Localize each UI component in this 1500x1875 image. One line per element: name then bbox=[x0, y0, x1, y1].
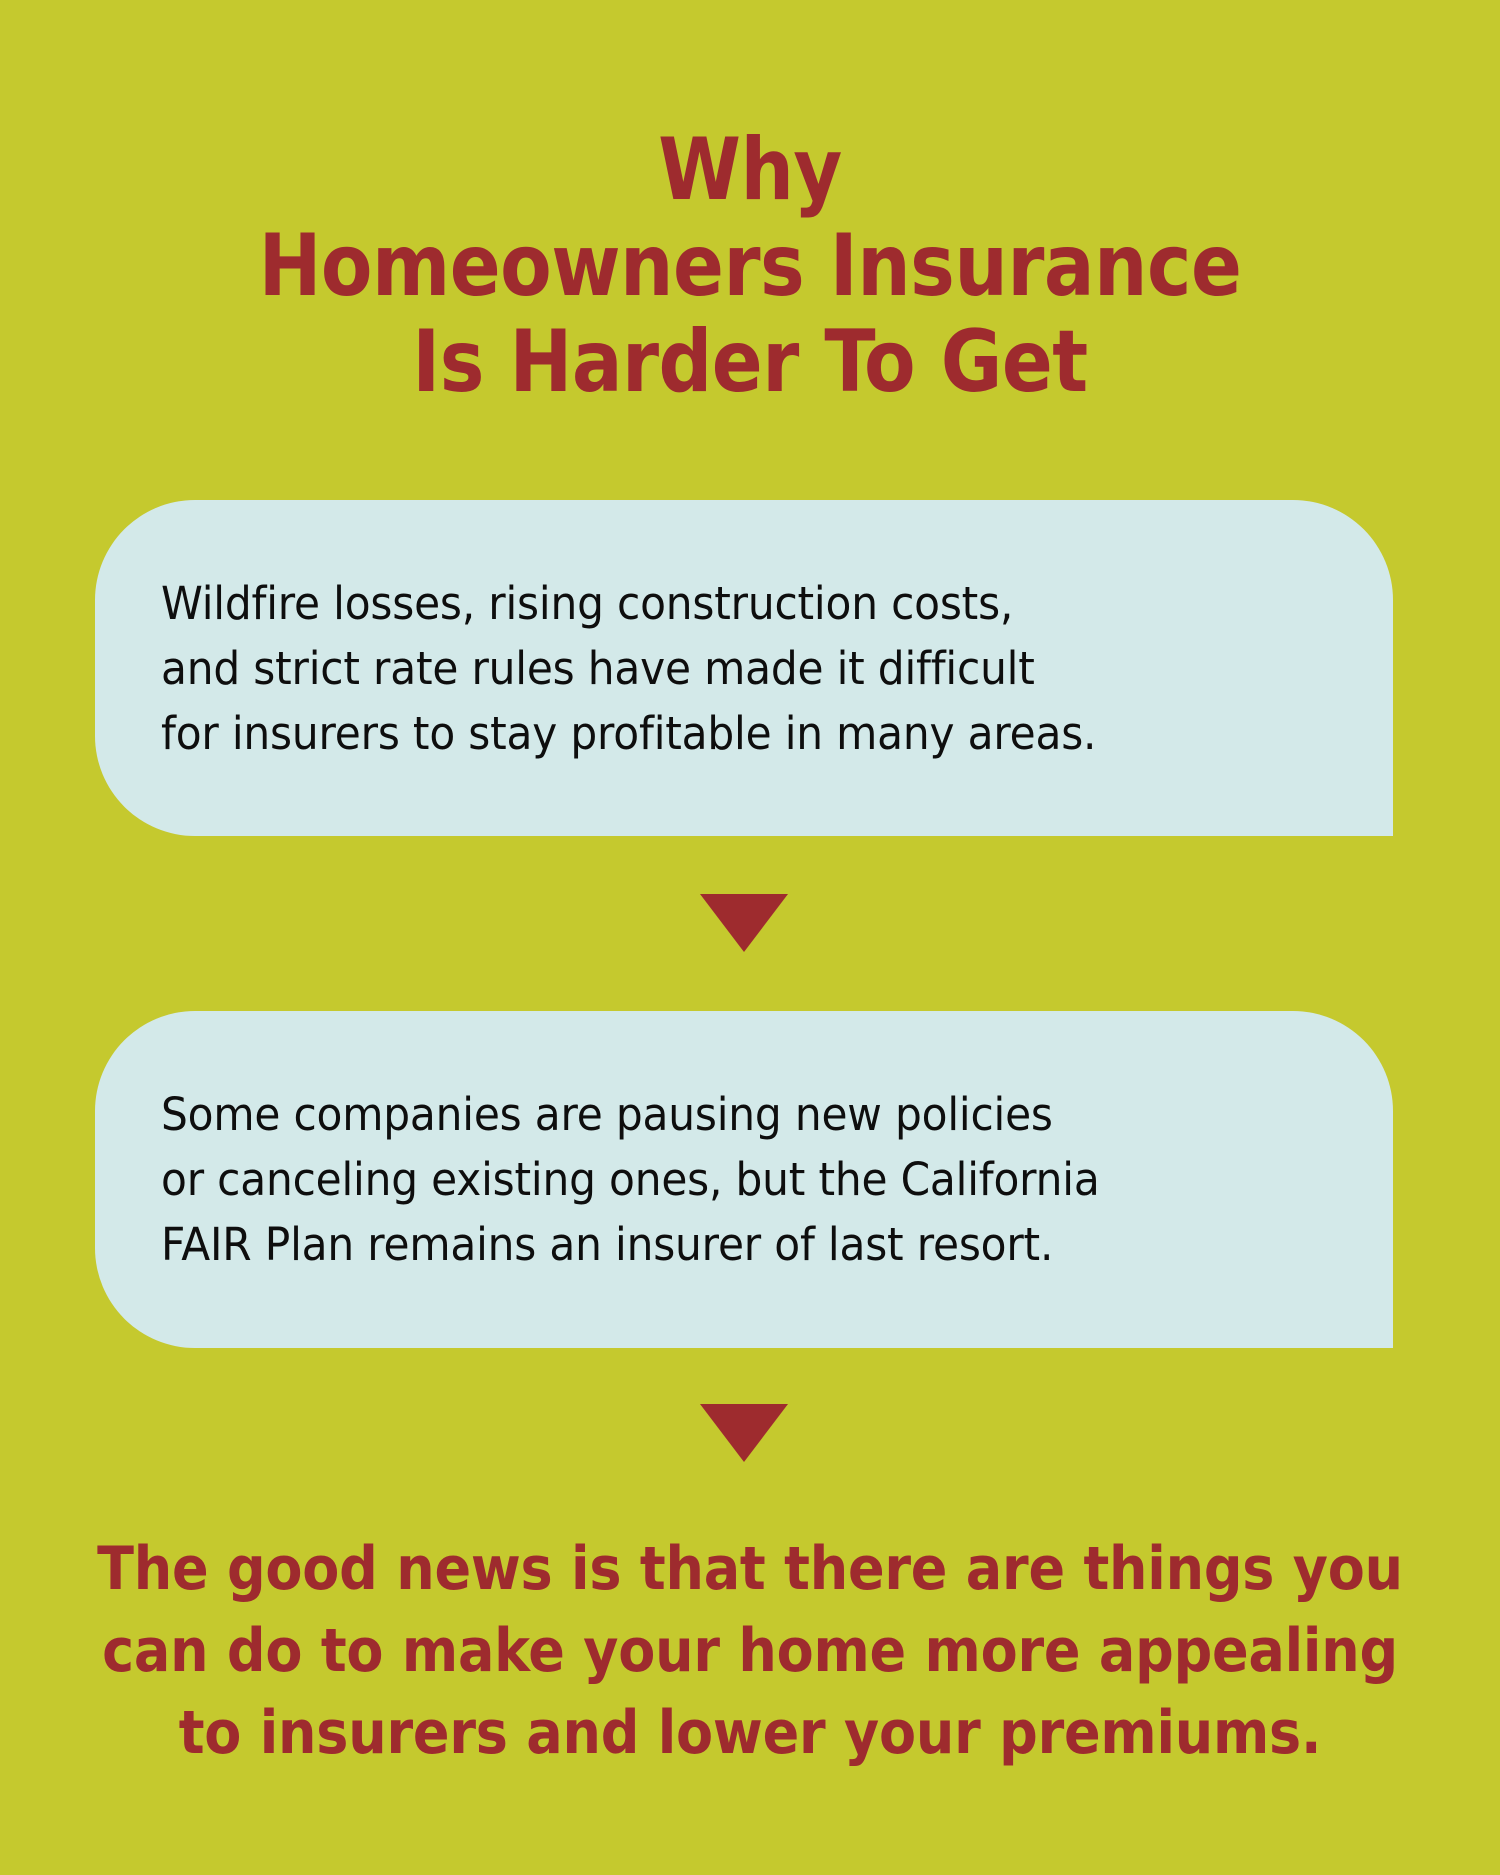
bubble-1-line-1: Wildfire losses, rising construction cos… bbox=[161, 571, 1257, 636]
info-bubble-2: Some companies are pausing new policies … bbox=[95, 1011, 1393, 1348]
info-bubble-1: Wildfire losses, rising construction cos… bbox=[95, 500, 1393, 836]
footer-callout: The good news is that there are things y… bbox=[0, 1528, 1500, 1774]
footer-line-2: can do to make your home more appealing bbox=[0, 1610, 1500, 1692]
bubble-2-line-1: Some companies are pausing new policies bbox=[161, 1082, 1257, 1147]
info-bubble-1-content: Wildfire losses, rising construction cos… bbox=[95, 571, 1393, 766]
triangle-down-icon bbox=[700, 1404, 788, 1462]
bubble-2-line-2: or canceling existing ones, but the Cali… bbox=[161, 1147, 1257, 1212]
title-line-3: Is Harder To Get bbox=[23, 314, 1478, 410]
title-line-2: Homeowners Insurance bbox=[23, 218, 1478, 314]
footer-line-1: The good news is that there are things y… bbox=[0, 1528, 1500, 1610]
infographic-poster: Why Homeowners Insurance Is Harder To Ge… bbox=[0, 0, 1500, 1875]
bubble-2-line-3: FAIR Plan remains an insurer of last res… bbox=[161, 1212, 1257, 1277]
info-bubble-2-content: Some companies are pausing new policies … bbox=[95, 1082, 1393, 1277]
triangle-down-icon bbox=[700, 894, 788, 952]
title-line-1: Why bbox=[23, 122, 1478, 218]
page-title: Why Homeowners Insurance Is Harder To Ge… bbox=[23, 122, 1478, 410]
bubble-1-line-2: and strict rate rules have made it diffi… bbox=[161, 636, 1257, 701]
bubble-1-line-3: for insurers to stay profitable in many … bbox=[161, 701, 1257, 766]
footer-line-3: to insurers and lower your premiums. bbox=[0, 1692, 1500, 1774]
